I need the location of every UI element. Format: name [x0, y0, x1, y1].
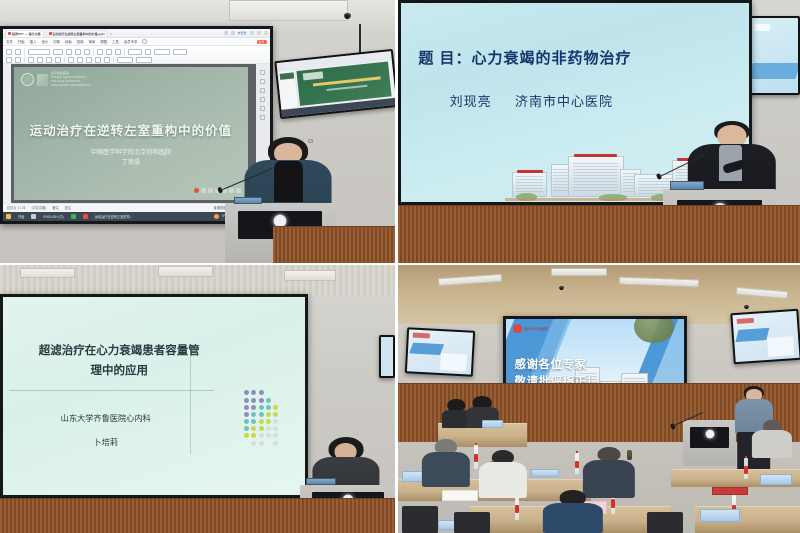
grid-icon[interactable] [229, 188, 234, 193]
status-comments-button[interactable]: 批注 [65, 205, 71, 210]
hospital-logo-text: 滨州市人民医院 [524, 327, 548, 331]
menu-item-file[interactable]: 文件 [6, 39, 13, 44]
font-name-box[interactable] [28, 49, 50, 55]
wall-monitor-right [730, 308, 800, 364]
ceiling-light-panel [158, 266, 213, 277]
menu-item-slideshow[interactable]: 放映 [77, 39, 84, 44]
bold-icon[interactable] [66, 49, 72, 55]
building-sign [517, 170, 543, 173]
wps-tab-label: 稻壳PPT — 演示文稿 [12, 32, 41, 36]
thanks-line-1: 感谢各位专家 [514, 357, 598, 374]
wps-ribbon [3, 46, 270, 64]
wall-monitor-left [405, 328, 476, 377]
wall-monitor-screen [750, 18, 798, 93]
logo-line-4: CENTENARY CELEBRATION [51, 84, 91, 88]
slide-mint: 超滤治疗在心力衰竭患者容量管 理中的应用 山东大学齐鲁医院心内科 卜培莉 [3, 297, 305, 495]
bottle-cap [475, 443, 477, 445]
audience-member [422, 439, 470, 487]
font-size-box[interactable] [53, 49, 63, 55]
ceiling-light-panel [284, 270, 335, 281]
window-minimize-icon[interactable] [250, 31, 254, 35]
hospital-logo: 北京协和医院 PEKING UNION MEDICAL COLLEGE HOSP… [21, 72, 91, 87]
ribbon-divider [64, 56, 65, 64]
chair [647, 512, 683, 533]
bottle-label [515, 505, 519, 514]
photo-panel-top-right: 题 目：心力衰竭的非药物治疗 刘现亮 济南市中心医院 [398, 0, 800, 265]
photo-panel-top-left: 稻壳PPT — 演示文稿 运动治疗在逆转左室重构中的价值.pptx + 未登录 [0, 0, 398, 265]
podium-emblem-icon [274, 214, 287, 227]
wps-tab-docker[interactable]: 稻壳PPT — 演示文稿 [5, 30, 44, 37]
slide-title: 超滤治疗在心力衰竭患者容量管 理中的应用 [36, 341, 202, 381]
upgrade-button[interactable]: 会员 [257, 40, 267, 44]
wps-taskbar-icon[interactable] [83, 214, 88, 219]
bottle-label [744, 466, 748, 474]
underline-icon[interactable] [84, 49, 90, 55]
thumbnail-pane[interactable] [3, 64, 11, 202]
audience-member [543, 490, 603, 533]
paste-icon[interactable] [6, 49, 12, 55]
photo-collage: 稻壳PPT — 演示文稿 运动治疗在逆转左室重构中的价值.pptx + 未登录 [0, 0, 800, 533]
dome-camera-icon [344, 13, 351, 19]
podium-laptop [670, 181, 704, 191]
window-close-icon[interactable] [264, 31, 268, 35]
hospital-emblem-icon [21, 73, 34, 86]
format-painter-icon[interactable] [6, 57, 12, 63]
start-menu-icon[interactable] [6, 214, 11, 219]
more-icon[interactable] [236, 188, 241, 193]
name-card [760, 474, 792, 485]
rail-text-icon[interactable] [260, 106, 265, 111]
projection-screen: 超滤治疗在心力衰竭患者容量管 理中的应用 山东大学齐鲁医院心内科 卜培莉 [0, 294, 308, 498]
wps-app-icon [49, 32, 52, 35]
ceiling-light-panel [229, 0, 348, 21]
status-notes-button[interactable]: 备注 [52, 205, 58, 210]
hospital-emblem-icon [513, 324, 522, 333]
slide-speaker: 丁荣晶 [14, 158, 249, 168]
slide-title-line-1: 超滤治疗在心力衰竭患者容量管 [36, 341, 202, 361]
rail-picture-icon[interactable] [260, 88, 265, 93]
window-maximize-icon[interactable] [257, 31, 261, 35]
weather-icon[interactable] [214, 214, 219, 219]
water-bottle [744, 458, 748, 479]
name-card [482, 420, 502, 428]
slide-divider-horizontal [9, 390, 214, 391]
wood-wainscot [0, 498, 395, 533]
find-replace-icon[interactable] [173, 49, 187, 55]
slide-green[interactable]: 北京协和医院 PEKING UNION MEDICAL COLLEGE HOSP… [14, 67, 249, 200]
water-bottle [575, 453, 579, 474]
wood-wainscot [398, 205, 800, 263]
char-spacing-icon[interactable] [46, 57, 52, 63]
menu-item-animation[interactable]: 动画 [65, 39, 72, 44]
photo-panel-bottom-left: 超滤治疗在心力衰竭患者容量管 理中的应用 山东大学齐鲁医院心内科 卜培莉 [0, 265, 398, 533]
status-slide-index: 幻灯片 1 / 25 [7, 205, 25, 210]
podium-laptop [306, 478, 336, 485]
projection-screen: 稻壳PPT — 演示文稿 运动治疗在逆转左室重构中的价值.pptx + 未登录 [0, 26, 273, 223]
audience-member [478, 450, 526, 498]
align-left-icon[interactable] [97, 49, 103, 55]
wps-app-icon [8, 32, 11, 35]
bottle-label [575, 461, 579, 469]
indent-icon[interactable] [86, 57, 92, 63]
menu-item-home[interactable]: 开始 [18, 39, 25, 44]
slide-speaker: 卜培莉 [27, 436, 184, 448]
menu-item-member[interactable]: 会员专享 [124, 39, 138, 44]
taskbar-doc-label[interactable]: 运动治疗在逆转左室重构... [95, 214, 133, 219]
ceiling-light-panel [551, 268, 607, 276]
wps-cloud-icon[interactable] [224, 31, 228, 35]
podium [683, 420, 735, 466]
wps-presentation-window: 稻壳PPT — 演示文稿 运动治疗在逆转左室重构中的价值.pptx + 未登录 [3, 29, 270, 220]
decorative-dot-grid [244, 390, 278, 445]
strike-icon[interactable] [28, 57, 34, 63]
pointer-icon[interactable] [208, 188, 213, 193]
rail-chart-icon[interactable] [260, 97, 265, 102]
wps-titlebar: 稻壳PPT — 演示文稿 运动治疗在逆转左室重构中的价值.pptx + 未登录 [3, 29, 270, 38]
wall-monitor-screen [381, 337, 393, 376]
slide-org: 山东大学齐鲁医院心内科 [27, 412, 184, 424]
wps-settings-icon[interactable] [231, 31, 235, 35]
building-sign [574, 154, 617, 157]
wps-menubar: 文件 开始 插入 设计 切换 动画 放映 审阅 视图 工具 会员专享 会员 [3, 38, 270, 46]
building [568, 156, 624, 196]
mirrored-thumbnail-pane [277, 70, 299, 109]
wechat-icon[interactable] [71, 214, 76, 219]
bottle-cap [576, 451, 578, 453]
name-card [700, 509, 740, 522]
columns-icon[interactable] [104, 57, 110, 63]
status-language[interactable]: 中文(中国) [31, 205, 46, 210]
water-bottle [515, 495, 519, 519]
arrange-icon[interactable] [145, 49, 151, 55]
bottle-cap [745, 456, 747, 458]
ribbon-divider [24, 48, 25, 56]
audience-torso [543, 503, 603, 533]
photo-panel-bottom-right: 滨州市人民医院 感谢各位专家 敬请批评指正！ 2023 [398, 265, 800, 533]
audience-torso [752, 430, 792, 458]
slide-subtitle: 刘现亮 济南市中心医院 [450, 91, 613, 110]
slide-subtitle: 中国医学科学院北京协和医院 丁荣晶 [14, 148, 249, 167]
ceiling-light-panel [20, 268, 75, 279]
podium-laptop [234, 197, 262, 204]
pen-icon[interactable] [201, 188, 206, 193]
rail-ai-icon[interactable] [260, 115, 265, 120]
rail-shape-icon[interactable] [260, 70, 265, 75]
wall-monitor [748, 16, 800, 95]
audience-torso [422, 452, 470, 488]
explorer-icon[interactable] [31, 214, 36, 219]
hospital-logo: 滨州市人民医院 [513, 324, 548, 333]
new-slide-icon[interactable] [15, 49, 21, 55]
align-right-icon[interactable] [115, 49, 121, 55]
wps-badge-icon[interactable] [194, 188, 199, 193]
red-folder [712, 487, 748, 495]
audience-torso [478, 462, 526, 498]
menu-item-design[interactable]: 设计 [41, 39, 48, 44]
name-card [531, 469, 559, 477]
centenary-mark-icon [37, 74, 48, 86]
rail-favorite-icon[interactable] [260, 79, 265, 84]
slide-org: 济南市中心医院 [515, 94, 613, 109]
ribbon-divider [93, 48, 94, 56]
desk-front [695, 520, 800, 533]
outline-color-icon[interactable] [136, 57, 152, 63]
ribbon-divider [24, 56, 25, 64]
ribbon-divider [124, 48, 125, 56]
align-center-icon[interactable] [106, 49, 112, 55]
menu-item-tools[interactable]: 工具 [112, 39, 119, 44]
bullets-icon[interactable] [68, 57, 74, 63]
numbering-icon[interactable] [77, 57, 83, 63]
wps-slide-canvas[interactable]: 北京协和医院 PEKING UNION MEDICAL COLLEGE HOSP… [3, 64, 270, 202]
ribbon-divider [113, 56, 114, 64]
wood-wainscot [273, 226, 395, 263]
audience-member [752, 420, 792, 458]
wall-monitor [379, 335, 395, 378]
fill-color-icon[interactable] [117, 57, 133, 63]
slide-title: 运动治疗在逆转左室重构中的价值 [14, 120, 249, 139]
wps-tab-active[interactable]: 运动治疗在逆转左室重构中的价值.pptx [46, 30, 108, 37]
wall-monitor-screen [276, 51, 396, 117]
layout-icon[interactable] [15, 57, 21, 63]
shape-gallery-icon[interactable] [128, 49, 142, 55]
search-icon[interactable] [142, 39, 147, 44]
taskbar-start-label[interactable]: 开始 [18, 214, 24, 219]
wps-account-label[interactable]: 未登录 [238, 31, 247, 35]
chair [402, 506, 438, 533]
text-shadow-icon[interactable] [37, 57, 43, 63]
podium-emblem-icon [705, 430, 714, 439]
wps-tab-label: 运动治疗在逆转左室重构中的价值.pptx [53, 32, 105, 36]
chair [454, 512, 490, 533]
projected-slide: 超滤治疗在心力衰竭患者容量管 理中的应用 山东大学齐鲁医院心内科 卜培莉 [3, 297, 305, 495]
menu-item-view[interactable]: 视图 [100, 39, 107, 44]
wall-monitor-screen [732, 310, 799, 361]
handout-paper [442, 490, 478, 501]
projected-desktop: 稻壳PPT — 演示文稿 运动治疗在逆转左室重构中的价值.pptx + 未登录 [3, 29, 270, 220]
italic-icon[interactable] [75, 49, 81, 55]
bottle-label [611, 499, 615, 508]
line-spacing-icon[interactable] [95, 57, 101, 63]
slide-org: 中国医学科学院北京协和医院 [14, 148, 249, 158]
slide-title: 题 目：心力衰竭的非药物治疗 [418, 47, 631, 68]
slide-speaker: 刘现亮 [450, 94, 492, 109]
menu-item-insert[interactable]: 插入 [30, 39, 37, 44]
wps-new-tab-button[interactable]: + [110, 31, 112, 36]
menu-item-review[interactable]: 审阅 [88, 39, 95, 44]
hospital-logo-text: 北京协和医院 PEKING UNION MEDICAL COLLEGE HOSP… [51, 72, 91, 87]
taskbar-drive-label[interactable]: ENGLISH (中) [43, 214, 63, 219]
text-color-icon[interactable] [55, 57, 61, 63]
presenter-inner-top [274, 161, 304, 202]
slide-title-line-2: 理中的应用 [36, 361, 202, 381]
wall-monitor-screen [407, 330, 473, 375]
menu-item-transition[interactable]: 切换 [53, 39, 60, 44]
quick-style-icon[interactable] [154, 49, 170, 55]
